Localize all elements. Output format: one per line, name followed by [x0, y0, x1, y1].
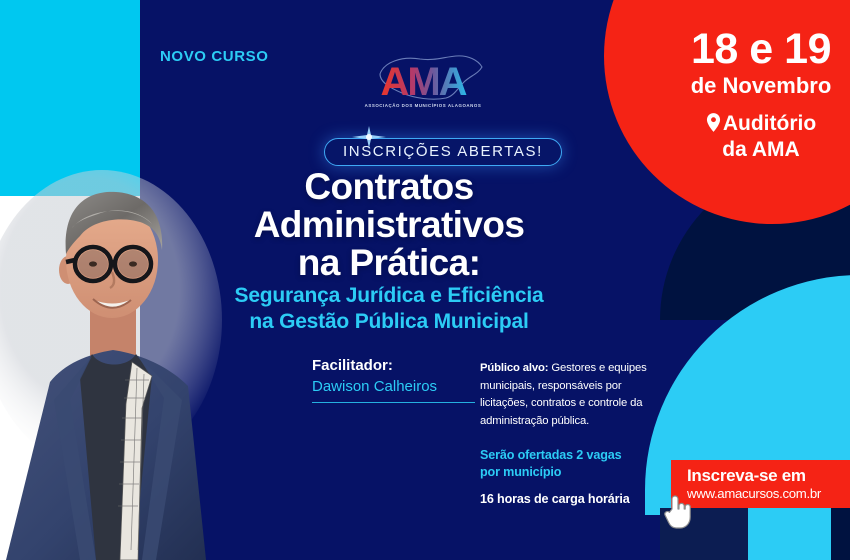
facilitator-name: Dawison Calheiros	[312, 376, 487, 397]
location-pin-icon	[706, 113, 721, 138]
title-line-2: Administrativos	[180, 206, 598, 244]
ama-logo-tagline: ASSOCIAÇÃO DOS MUNICÍPIOS ALAGOANOS	[358, 103, 488, 108]
facilitator-label: Facilitador:	[312, 356, 487, 376]
facilitator-block: Facilitador: Dawison Calheiros	[312, 356, 487, 403]
course-promo-banner: 18 e 19 de Novembro Auditório da AMA	[0, 0, 850, 560]
audience-info: Público alvo: Gestores e equipes municip…	[480, 360, 662, 430]
venue-line-1: Auditório	[723, 112, 816, 135]
title-line-3: na Prática:	[180, 244, 598, 282]
subtitle-line-2: na Gestão Pública Municipal	[180, 309, 598, 335]
bg-cyan-bottom-bar	[748, 508, 831, 560]
svg-text:AMA: AMA	[380, 60, 466, 104]
event-date-block: 18 e 19 de Novembro Auditório da AMA	[672, 28, 850, 161]
eyebrow-label: NOVO CURSO	[160, 48, 269, 65]
subtitle-line-1: Segurança Jurídica e Eficiência	[180, 283, 598, 309]
vacancies-info: Serão ofertadas 2 vagas por município	[480, 447, 662, 480]
event-month: de Novembro	[672, 73, 850, 98]
ama-logo: AMA	[358, 48, 488, 110]
sparkle-icon	[352, 126, 386, 148]
event-days: 18 e 19	[672, 28, 850, 72]
bg-navy-bottom-right-corner	[831, 508, 850, 560]
facilitator-underline	[312, 402, 475, 403]
course-subtitle: Segurança Jurídica e Eficiência na Gestã…	[180, 283, 598, 336]
venue-line-2: da AMA	[672, 138, 850, 162]
hand-pointer-icon	[661, 493, 691, 531]
audience-label: Público alvo:	[480, 362, 548, 374]
event-venue: Auditório da AMA	[672, 112, 850, 161]
course-hours: 16 horas de carga horária	[480, 492, 670, 506]
vacancies-line-2: por município	[480, 464, 662, 481]
cta-url[interactable]: www.amacursos.com.br	[687, 486, 842, 502]
vacancies-line-1: Serão ofertadas 2 vagas	[480, 447, 662, 464]
title-line-1: Contratos	[180, 168, 598, 206]
course-title: Contratos Administrativos na Prática:	[180, 168, 598, 282]
register-cta[interactable]: Inscreva-se em www.amacursos.com.br	[671, 460, 850, 508]
cta-headline: Inscreva-se em	[687, 466, 842, 486]
